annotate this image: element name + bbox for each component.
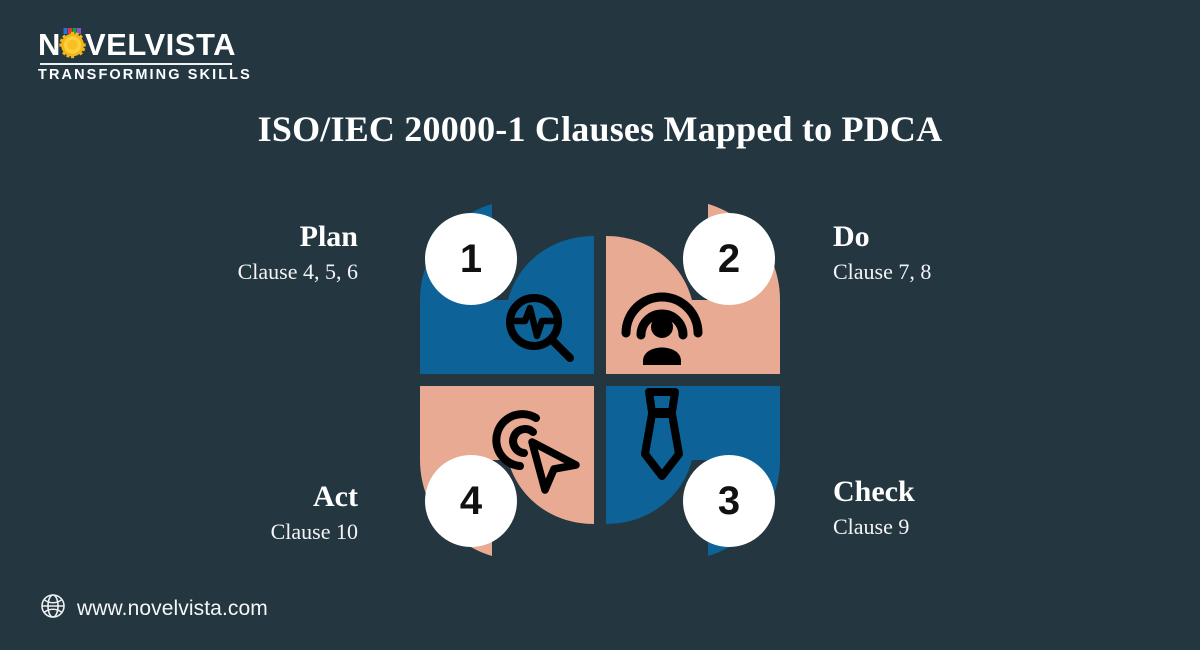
pdca-diagram-svg: 1 2 [412,192,788,568]
brand-wordmark: N [38,26,238,62]
quadrant-label-do: Do Clause 7, 8 [833,222,931,283]
quadrant-label-plan: Plan Clause 4, 5, 6 [238,222,358,283]
pdca-quadrant-do[interactable]: 2 [606,200,780,374]
brand-letters-rest: VELVISTA [85,27,236,62]
quadrant-label-do-title: Do [833,222,931,252]
petal-number-act: 4 [460,479,483,523]
brand-letter-n: N [38,27,61,62]
pdca-quadrant-act[interactable]: 4 [420,386,594,560]
brand-tagline: TRANSFORMING SKILLS [38,67,235,83]
slide-canvas: N [0,0,1200,650]
petal-number-do: 2 [718,237,740,281]
quadrant-label-act-title: Act [271,482,358,512]
quadrant-label-plan-title: Plan [238,222,358,252]
pdca-diagram: 1 2 [412,192,788,568]
petal-number-check: 3 [718,479,740,523]
quadrant-label-act-sub: Clause 10 [271,521,358,543]
gold-medal-icon [59,32,85,58]
brand-wordmark-svg: N [38,26,238,64]
pdca-quadrant-check[interactable]: 3 [606,386,780,560]
brand-divider-rule [40,63,232,65]
quadrant-label-check-sub: Clause 9 [833,516,915,538]
globe-icon [40,593,66,624]
pdca-quadrant-plan[interactable]: 1 [420,200,594,374]
petal-number-plan: 1 [460,237,482,281]
brand-logo: N [38,26,238,88]
quadrant-label-check-title: Check [833,477,915,507]
footer: www.novelvista.com [40,593,268,624]
quadrant-label-do-sub: Clause 7, 8 [833,261,931,283]
quadrant-label-plan-sub: Clause 4, 5, 6 [238,261,358,283]
website-url[interactable]: www.novelvista.com [77,597,268,621]
quadrant-label-check: Check Clause 9 [833,477,915,538]
quadrant-label-act: Act Clause 10 [271,482,358,543]
page-title: ISO/IEC 20000-1 Clauses Mapped to PDCA [0,108,1200,150]
